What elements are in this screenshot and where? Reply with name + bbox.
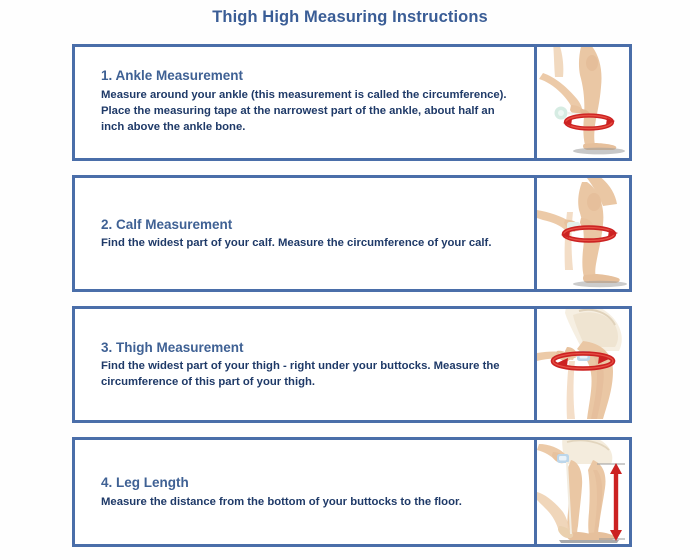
step-body-text: Measure around your ankle (this measurem…	[101, 87, 518, 135]
instruction-step-row: 1. Ankle Measurement Measure around your…	[72, 44, 632, 161]
step-illustration-cell	[537, 47, 629, 158]
step-illustration-cell	[537, 440, 629, 544]
step-body-text: Measure the distance from the bottom of …	[101, 494, 518, 510]
step-heading: 2. Calf Measurement	[101, 216, 518, 234]
step-text-cell: 3. Thigh Measurement Find the widest par…	[75, 309, 537, 420]
step-heading: 3. Thigh Measurement	[101, 339, 518, 357]
ankle-measurement-illustration	[537, 47, 629, 158]
step-text-cell: 4. Leg Length Measure the distance from …	[75, 440, 537, 544]
step-text-cell: 1. Ankle Measurement Measure around your…	[75, 47, 537, 158]
instructions-page: Thigh High Measuring Instructions 1. Ank…	[0, 0, 700, 560]
step-heading: 1. Ankle Measurement	[101, 67, 518, 85]
instruction-step-row: 4. Leg Length Measure the distance from …	[72, 437, 632, 547]
step-heading: 4. Leg Length	[101, 474, 518, 492]
thigh-measurement-illustration	[537, 309, 629, 420]
step-illustration-cell	[537, 178, 629, 289]
leg-length-illustration	[537, 440, 629, 544]
instruction-step-row: 3. Thigh Measurement Find the widest par…	[72, 306, 632, 423]
step-text-cell: 2. Calf Measurement Find the widest part…	[75, 178, 537, 289]
instruction-steps-list: 1. Ankle Measurement Measure around your…	[72, 44, 632, 547]
instruction-step-row: 2. Calf Measurement Find the widest part…	[72, 175, 632, 292]
step-body-text: Find the widest part of your thigh - rig…	[101, 358, 518, 390]
step-illustration-cell	[537, 309, 629, 420]
page-title: Thigh High Measuring Instructions	[0, 0, 700, 27]
calf-measurement-illustration	[537, 178, 629, 289]
step-body-text: Find the widest part of your calf. Measu…	[101, 235, 518, 251]
